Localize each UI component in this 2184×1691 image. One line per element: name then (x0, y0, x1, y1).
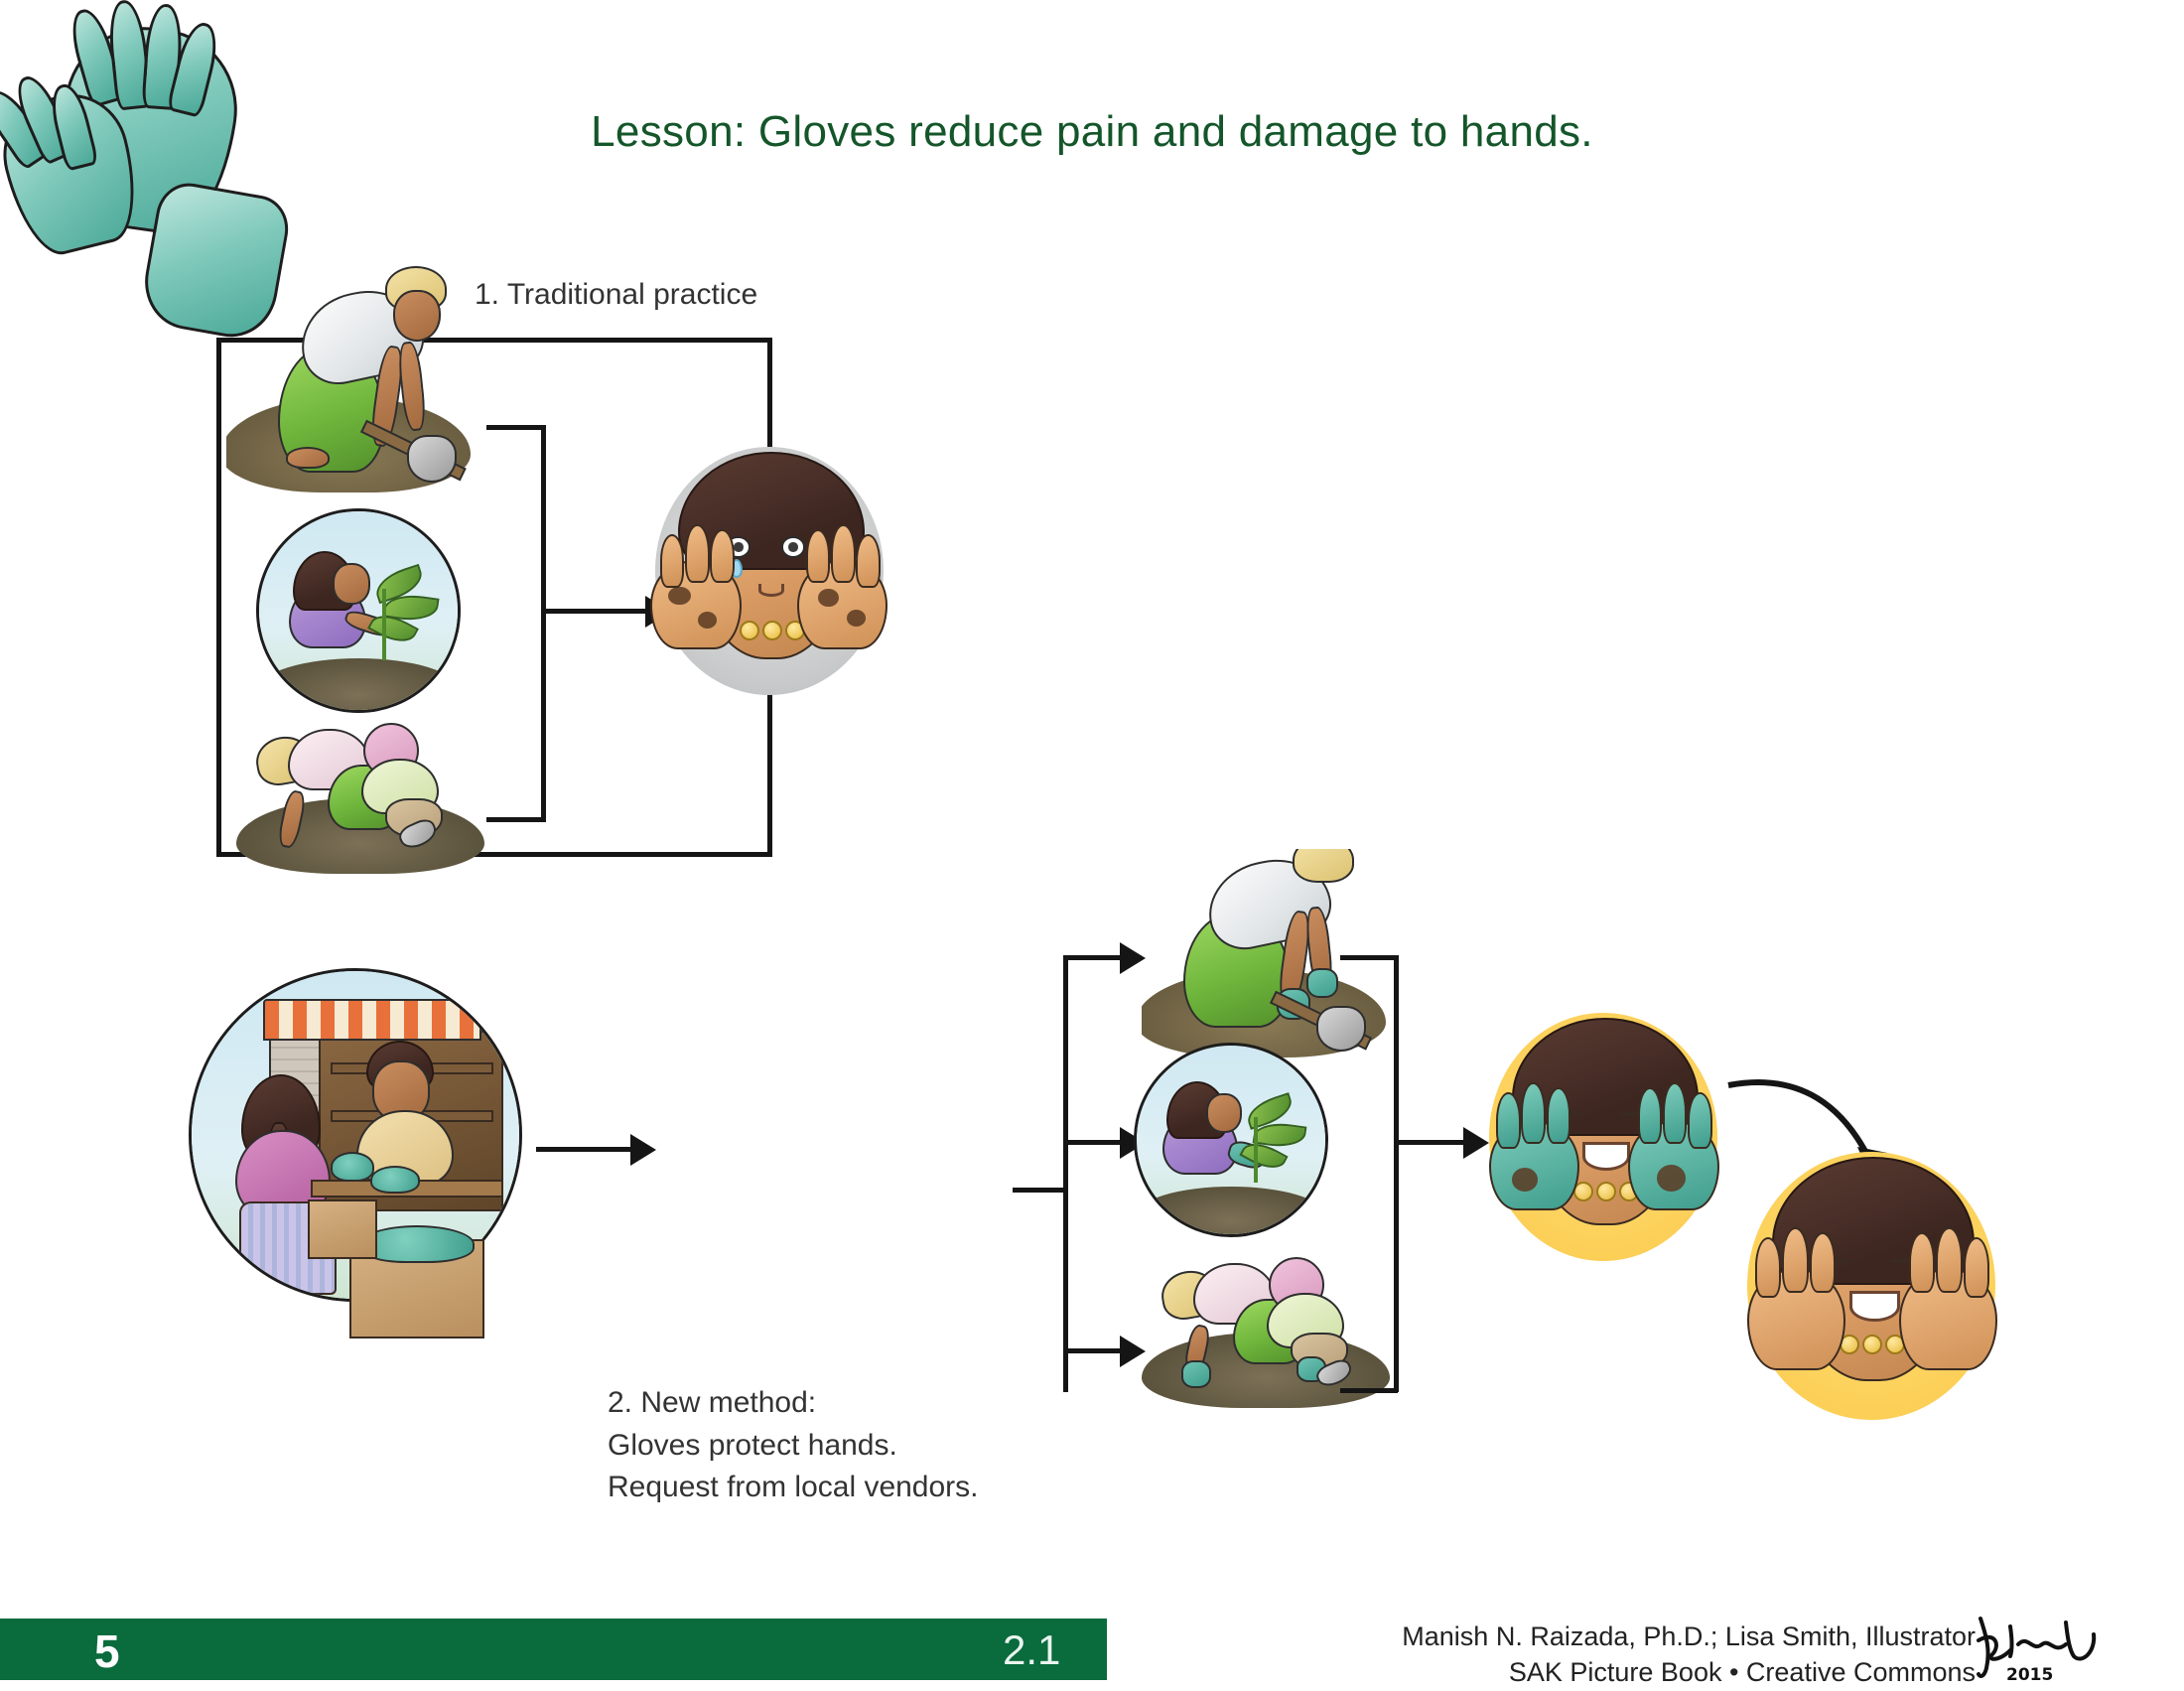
scene-planting-barehanded (256, 508, 461, 713)
glove-on-hand-right (1306, 968, 1338, 998)
new-method-line-1: 2. New method: (608, 1382, 979, 1425)
scene-digging-gloved (1142, 849, 1390, 1057)
traditional-practice-label: 1. Traditional practice (475, 278, 757, 312)
new-fanout-bottom (1063, 1348, 1125, 1353)
new-merge-top (1340, 955, 1398, 960)
sad-girl-damaged-hands (655, 447, 884, 695)
scene-weeding-barehanded (236, 707, 484, 874)
new-method-label: 2. New method: Gloves protect hands. Req… (608, 1382, 979, 1509)
page-title: Lesson: Gloves reduce pain and damage to… (0, 107, 2184, 157)
new-merge-out (1394, 1140, 1469, 1145)
happy-girl-clean-hands (1747, 1152, 1995, 1420)
traditional-merge-out (541, 609, 650, 614)
credit-line-1: Manish N. Raizada, Ph.D.; Lisa Smith, Il… (1320, 1619, 1976, 1654)
footer-green-bar (0, 1619, 1107, 1680)
new-fanout-mid (1063, 1140, 1125, 1145)
happy-girl-gloved-hands (1489, 1013, 1717, 1261)
traditional-frame-left (216, 338, 221, 857)
traditional-merge-spine (541, 425, 546, 822)
new-fanout-top (1063, 955, 1125, 960)
new-method-line-2: Gloves protect hands. (608, 1425, 979, 1468)
vendor-to-gloves-arrowhead (630, 1134, 656, 1166)
vendor-to-gloves-line (536, 1147, 635, 1152)
new-merge-arrowhead (1463, 1127, 1489, 1159)
gloves-in-hand (331, 1152, 374, 1182)
scene-weeding-gloved (1142, 1241, 1390, 1408)
new-merge-bottom (1340, 1388, 1398, 1393)
weeding-glove-left (1181, 1360, 1211, 1388)
page-number: 5 (94, 1624, 120, 1678)
scene-planting-gloved (1134, 1043, 1328, 1237)
gloves-on-counter (370, 1166, 420, 1194)
glove-to-bracket-line (1013, 1188, 1068, 1193)
credit-line-2: SAK Picture Book • Creative Commons (1320, 1654, 1976, 1690)
traditional-merge-bottom (486, 817, 546, 822)
illustrator-signature: 2015 (1971, 1607, 2139, 1686)
new-fanout-spine (1063, 955, 1068, 1392)
new-method-line-3: Request from local vendors. (608, 1467, 979, 1509)
section-number: 2.1 (1003, 1626, 1060, 1674)
signature-year: 2015 (2006, 1665, 2053, 1685)
new-merge-spine (1394, 955, 1399, 1392)
cardboard-box-small (308, 1199, 377, 1259)
traditional-merge-top (486, 425, 546, 430)
credits: Manish N. Raizada, Ph.D.; Lisa Smith, Il… (1320, 1619, 1976, 1691)
pair-of-rubber-gloves (0, 0, 318, 357)
